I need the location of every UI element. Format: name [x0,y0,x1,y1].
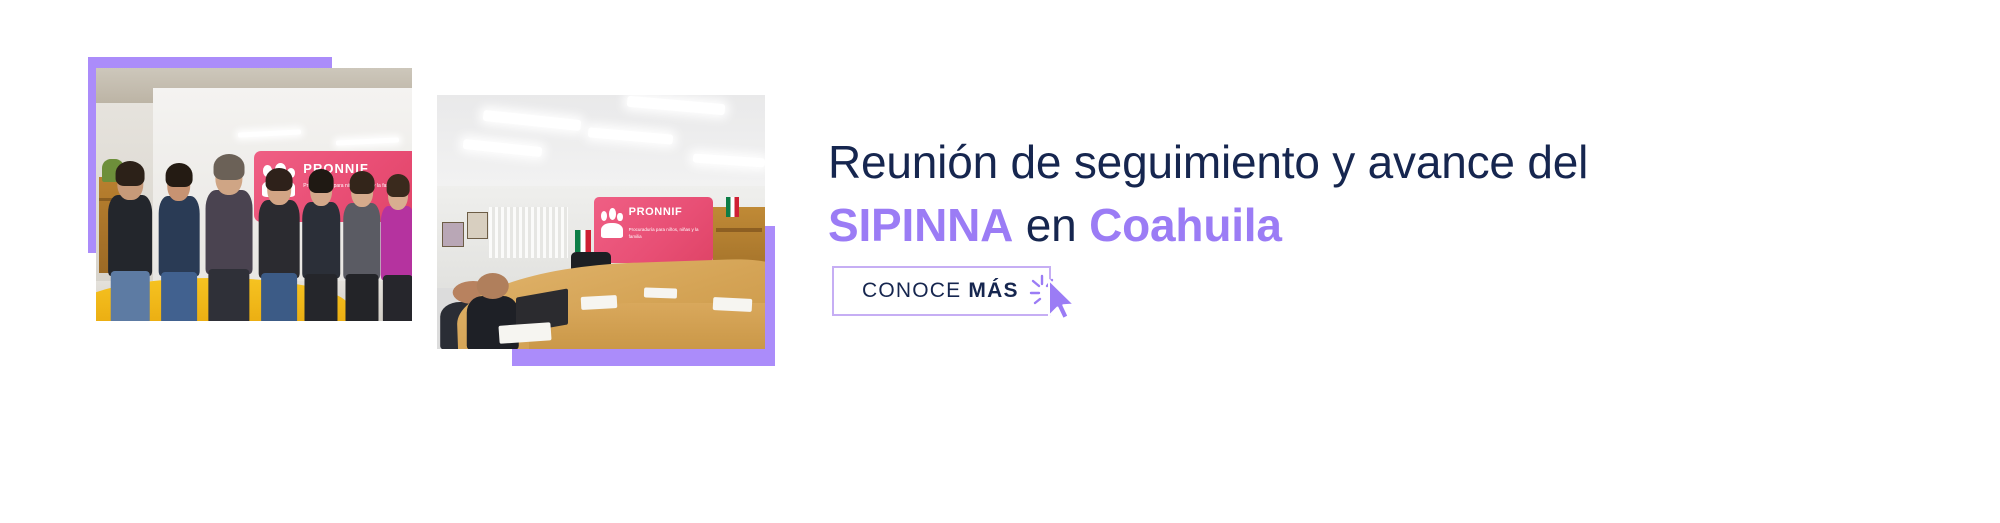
page-title: Reunión de seguimiento y avance del SIPI… [828,132,1888,255]
promo-banner: PRONNIF Procuraduría para niños, niñas y… [0,0,2000,523]
headline-line-2: SIPINNA en Coahuila [828,195,1888,256]
cta-label-bold: MÁS [968,279,1018,302]
headline-coahuila: Coahuila [1089,199,1282,251]
person [109,166,153,321]
cta-label: CONOCE MÁS [862,279,1019,303]
headline-line-1: Reunión de seguimiento y avance del [828,132,1888,193]
pronnif-banner-title: PRONNIF [629,206,683,218]
person [381,179,412,321]
headline-sipinna: SIPINNA [828,199,1013,251]
document [712,297,752,312]
mexican-flag [726,197,739,217]
click-cursor-icon [1029,272,1083,324]
headline-en: en [1013,199,1089,251]
document [643,287,676,298]
photo-collage: PRONNIF Procuraduría para niños, niñas y… [0,0,820,523]
person [302,174,340,321]
document [581,295,618,310]
person [206,159,253,321]
pronnif-banner-subtitle: Procuraduría para niños, niñas y la fami… [629,227,709,241]
conoce-mas-button[interactable]: CONOCE MÁS [832,266,1051,316]
people-group [99,159,412,321]
text-content: Reunión de seguimiento y avance del SIPI… [828,0,1928,523]
person [259,172,300,321]
cta-wrapper: CONOCE MÁS [832,266,1051,316]
person [159,167,200,321]
meeting-room-photo: PRONNIF Procuraduría para niños, niñas y… [437,95,765,349]
document [499,322,553,343]
wall-picture [467,212,489,239]
cta-label-regular: CONOCE [862,279,968,302]
group-photo: PRONNIF Procuraduría para niños, niñas y… [96,68,412,321]
person [343,175,381,321]
